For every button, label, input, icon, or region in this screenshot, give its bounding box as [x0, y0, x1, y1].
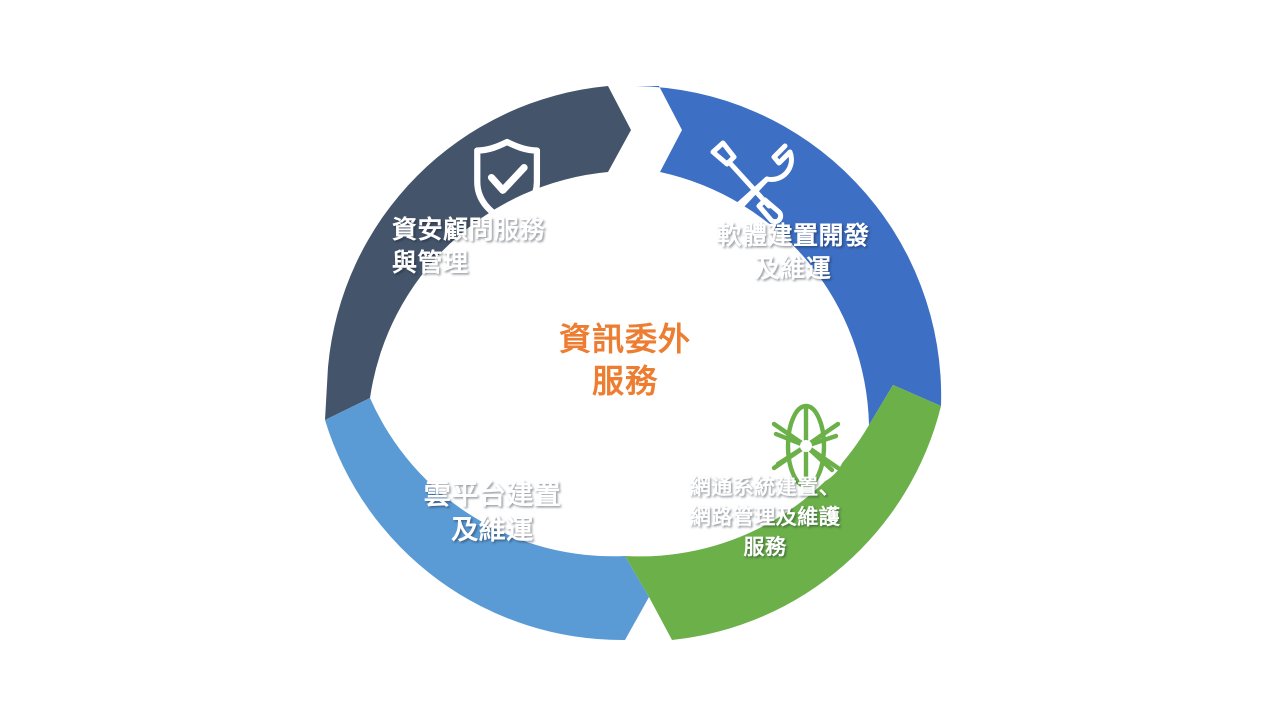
circular-diagram	[0, 0, 1280, 720]
globe-network-icon	[766, 406, 846, 486]
cloud-icon	[414, 411, 497, 472]
center-hub	[508, 247, 740, 479]
slide-canvas: 資安顧問服務 與管理 軟體建置開發 及維運 網通系統建置、 網路管理及維護 服務…	[0, 0, 1280, 720]
